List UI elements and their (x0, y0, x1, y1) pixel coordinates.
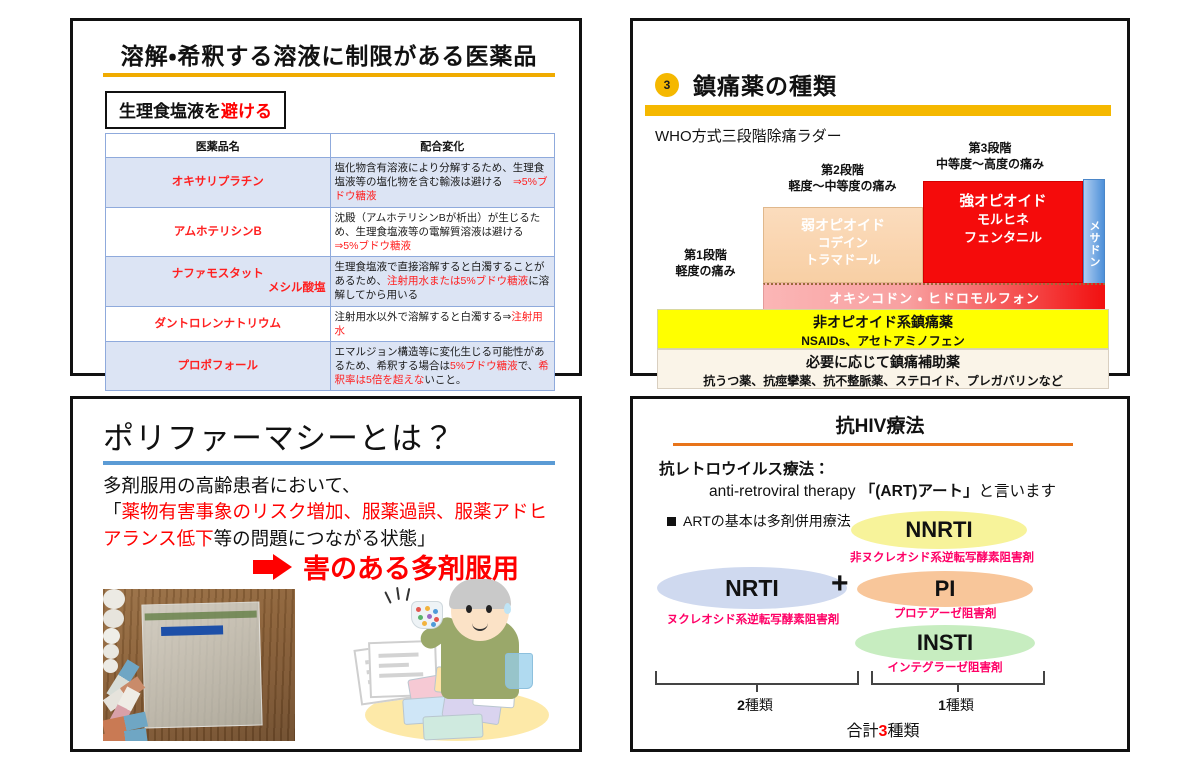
drug-class-oval-insti: INSTI (855, 625, 1035, 661)
slide-sheet: 溶解・希釈する溶液に制限がある医薬品 生理食塩液を避ける 医薬品名 配合変化 オ… (0, 0, 1200, 770)
stage2-line2: 軽度～中等度の痛み (788, 179, 896, 193)
blister-pack (422, 713, 483, 740)
chip-warning-label: 避ける (221, 102, 272, 121)
status-badge-avoid-saline: 生理食塩液を避ける (105, 91, 286, 129)
drug-class-caption-pi: プロテアーゼ阻害剤 (857, 605, 1033, 621)
stage1-label: 第1段階 軽度の痛み (653, 248, 758, 279)
cell-drug-name-sub: メシル酸塩 (110, 281, 326, 295)
adjuvant-title: 必要に応じて鎮痛補助薬 (658, 352, 1108, 372)
table-row: オキサリプラチン塩化物含有溶液により分解するため、生理食塩液等の塩化物を含む輸液… (106, 158, 555, 208)
slide-panel-anti-hiv-therapy: 抗HIV療法 抗レトロウイルス療法： anti-retroviral thera… (630, 396, 1130, 752)
count-number-right: 1 (938, 697, 946, 713)
table-row: ダントロレンナトリウム注射用水以外で溶解すると白濁する⇒注射用水 (106, 306, 555, 341)
art-definition: anti-retroviral therapy 「(ART)アート」と言います (709, 479, 1056, 501)
chip-prefix-label: 生理食塩液を (119, 102, 221, 121)
drug-class-abbr: NRTI (725, 575, 779, 602)
patient-eye (466, 605, 472, 613)
adjuvant-drugs: 抗うつ薬、抗痙攣薬、抗不整脈薬、ステロイド、プレガバリンなど (658, 372, 1108, 389)
emphasis-line-icon (406, 588, 411, 601)
count-label-right: 1種類 (871, 695, 1041, 715)
methadone-label: メサドン (1086, 220, 1102, 268)
emphasis-line-icon (384, 591, 391, 604)
section-number-badge: 3 (655, 73, 679, 97)
page-title: ポリファーマシーとは？ (103, 413, 455, 458)
weak-opioid-title: 弱オピオイド (764, 215, 922, 235)
art-heading: 抗レトロウイルス療法： (659, 457, 830, 479)
drug-class-caption-nnrti: 非ヌクレオシド系逆転写酵素阻害剤 (847, 549, 1037, 565)
cell-incompatibility: エマルジョン構造等に変化生じる可能性があるため、希釈する場合は5%ブドウ糖液で、… (330, 341, 555, 391)
title-underline (673, 443, 1073, 446)
brace-right-icon (871, 671, 1045, 685)
plus-sign-icon: + (831, 567, 849, 601)
drug-class-abbr: INSTI (917, 630, 973, 656)
elderly-patient-illustration (323, 579, 553, 747)
table-row: プロポフォールエマルジョン構造等に変化生じる可能性があるため、希釈する場合は5%… (106, 341, 555, 391)
column-header-drug-name: 医薬品名 (106, 134, 331, 158)
column-header-incompatibility: 配合変化 (330, 134, 555, 158)
nonopioid-drugs: NSAIDs、アセトアミノフェン (658, 332, 1108, 349)
drug-incompatibility-table: 医薬品名 配合変化 オキサリプラチン塩化物含有溶液により分解するため、生理食塩液… (105, 133, 555, 391)
bag-redaction-label (161, 625, 223, 636)
title-underline (103, 461, 555, 465)
art-tail-label: と言います (979, 483, 1057, 500)
count-unit-left: 種類 (745, 697, 773, 713)
page-title: 溶解・希釈する溶液に制限がある医薬品 (105, 37, 553, 71)
handful-of-pills (411, 601, 443, 629)
slide-panel-analgesic-ladder: 3 鎮痛薬の種類 WHO方式三段階除痛ラダー 第3段階 中等度～高度の痛み 第2… (630, 18, 1130, 376)
stage3-line2: 中等度～高度の痛み (936, 157, 1044, 171)
art-english-label: anti-retroviral therapy (709, 483, 860, 500)
cell-incompatibility: 生理食塩液で直接溶解すると白濁することがあるため、注射用水または5%ブドウ糖液に… (330, 257, 555, 307)
bag-zipper (145, 611, 257, 621)
total-prefix: 合計 (847, 723, 879, 740)
cell-incompatibility: 塩化物含有溶液により分解するため、生理食塩液等の塩化物を含む輸液は避ける ⇒5%… (330, 158, 555, 208)
bullet-square-icon (667, 517, 676, 526)
tablet (103, 589, 125, 609)
tablet (103, 659, 118, 673)
brace-left-icon (655, 671, 859, 685)
stage1-line2: 軽度の痛み (675, 264, 735, 278)
table-row: アムホテリシンB沈殿（アムホテリシンBが析出）が生じるため、生理食塩液等の電解質… (106, 207, 555, 257)
weak-opioid-drug-1: コデイン (818, 236, 868, 250)
cell-incompatibility: 沈殿（アムホテリシンBが析出）が生じるため、生理食塩液等の電解質溶液は避ける ⇒… (330, 207, 555, 257)
cell-incompatibility: 注射用水以外で溶解すると白濁する⇒注射用水 (330, 306, 555, 341)
count-label-left: 2種類 (655, 695, 855, 715)
weak-opioid-drug-2: トラマドール (805, 253, 880, 267)
strong-opioid-drugs: モルヒネ フェンタニル (924, 211, 1082, 246)
tablet (103, 628, 120, 644)
strong-opioid-drug-2: フェンタニル (964, 230, 1042, 245)
count-number-left: 2 (737, 697, 745, 713)
art-bullet: ARTの基本は多剤併用療法 (667, 511, 851, 531)
total-count-label: 合計3種類 (753, 717, 1013, 741)
patient-hair (449, 579, 511, 609)
cell-drug-name: ナファモスタットメシル酸塩 (106, 257, 331, 307)
drug-class-caption-nrti: ヌクレオシド系逆転写酵素阻害剤 (647, 611, 859, 627)
slide-panel-solvent-restrictions: 溶解・希釈する溶液に制限がある医薬品 生理食塩液を避ける 医薬品名 配合変化 オ… (70, 18, 582, 376)
drug-class-abbr: NNRTI (905, 517, 972, 543)
emphasis-line-icon (396, 587, 400, 600)
nonopioid-title: 非オピオイド系鎮痛薬 (658, 312, 1108, 332)
ladder-block-nonopioid: 非オピオイド系鎮痛薬 NSAIDs、アセトアミノフェン (657, 309, 1109, 349)
medicine-bag (141, 601, 262, 728)
drug-class-abbr: PI (935, 576, 956, 602)
cell-drug-name: アムホテリシンB (106, 207, 331, 257)
oxycodone-label: オキシコドン ・ ヒドロモルフォン (829, 288, 1040, 307)
page-title: 抗HIV療法 (633, 411, 1127, 438)
stage1-line1: 第1段階 (684, 248, 727, 262)
strong-opioid-title: 強オピオイド (924, 190, 1082, 211)
drug-class-oval-pi: PI (857, 571, 1033, 607)
page-title: 鎮痛薬の種類 (693, 67, 837, 101)
title-accent-bar (645, 105, 1111, 116)
drug-class-oval-nnrti: NNRTI (851, 511, 1027, 549)
total-suffix: 種類 (887, 723, 919, 740)
arrow-right-icon (253, 554, 293, 580)
strong-opioid-drug-1: モルヒネ (977, 212, 1029, 227)
table-row: ナファモスタットメシル酸塩生理食塩液で直接溶解すると白濁することがあるため、注射… (106, 257, 555, 307)
definition-text: 多剤服用の高齢患者において、「薬物有害事象のリスク増加、服薬過誤、服薬アドヒアラ… (103, 473, 563, 552)
title-underline (103, 73, 555, 77)
cell-drug-name: プロポフォール (106, 341, 331, 391)
table-header-row: 医薬品名 配合変化 (106, 134, 555, 158)
count-unit-right: 種類 (946, 697, 974, 713)
tablet (103, 609, 124, 628)
stage2-line1: 第2段階 (821, 163, 864, 177)
patient-eye (486, 605, 492, 613)
stage3-line1: 第3段階 (969, 141, 1012, 155)
who-analgesic-ladder-diagram: 第3段階 中等度～高度の痛み 第2段階 軽度～中等度の痛み 第1段階 軽度の痛み… (645, 141, 1121, 367)
tablet (103, 644, 119, 659)
cell-drug-name: ダントロレンナトリウム (106, 306, 331, 341)
cell-drug-name: オキサリプラチン (106, 158, 331, 208)
pills-photo (103, 589, 295, 741)
water-glass (505, 653, 533, 689)
slide-panel-polypharmacy: ポリファーマシーとは？ 多剤服用の高齢患者において、「薬物有害事象のリスク増加、… (70, 396, 582, 752)
art-abbrev-label: 「(ART)アート」 (860, 483, 979, 500)
ladder-block-adjuvant: 必要に応じて鎮痛補助薬 抗うつ薬、抗痙攣薬、抗不整脈薬、ステロイド、プレガバリン… (657, 349, 1109, 389)
ladder-block-oxycodone-hydromorphone: オキシコドン ・ ヒドロモルフォン (763, 283, 1105, 309)
stage2-label: 第2段階 軽度～中等度の痛み (755, 163, 930, 194)
ladder-block-strong-opioid: 強オピオイド モルヒネ フェンタニル (923, 181, 1083, 283)
weak-opioid-drugs: コデイン トラマドール (764, 235, 922, 269)
art-bullet-label: ARTの基本は多剤併用療法 (683, 513, 851, 529)
sweat-drop-icon (504, 603, 511, 614)
drug-class-oval-nrti: NRTI (657, 567, 847, 609)
ladder-block-weak-opioid: 弱オピオイド コデイン トラマドール (763, 207, 923, 283)
